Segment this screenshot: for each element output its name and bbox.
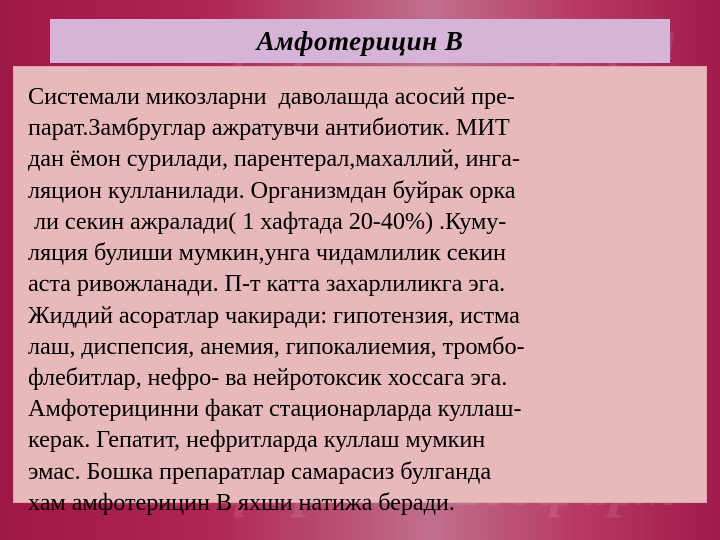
slide-body-panel: Системали микозларни даволашда асосий пр… (13, 66, 707, 503)
slide-title: Амфотерицин В (257, 28, 464, 55)
slide-body-text: Системали микозларни даволашда асосий пр… (28, 81, 694, 518)
presentation-slide: Медфарм Медфарм Медфарм Медфарм Медфарм … (0, 0, 720, 540)
slide-title-bar: Амфотерицин В (50, 19, 670, 63)
